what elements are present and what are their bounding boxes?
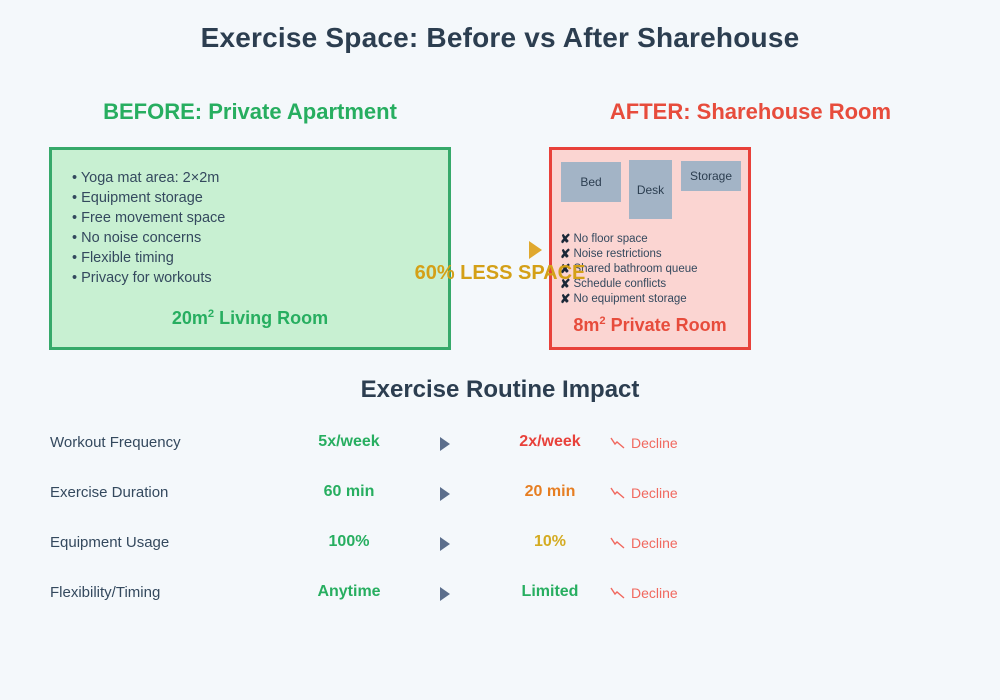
furniture-box-desk: Desk [629,160,672,219]
list-item: • Privacy for workouts [72,268,225,288]
row-arrow-icon [440,437,450,451]
after-area-label: 8m2 Private Room [552,315,748,336]
impact-section-title: Exercise Routine Impact [0,376,1000,404]
before-value: 60 min [249,483,449,501]
table-row: Exercise Duration 60 min 20 min Decline [50,474,750,524]
after-panel: Bed Desk Storage ✘ No floor space ✘ Nois… [549,147,751,350]
row-arrow-icon [440,537,450,551]
table-row: Workout Frequency 5x/week 2x/week Declin… [50,424,750,474]
before-value: Anytime [249,583,449,601]
before-feature-list: • Yoga mat area: 2×2m • Equipment storag… [72,168,225,288]
furniture-box-bed: Bed [561,162,621,202]
metric-label: Flexibility/Timing [50,584,160,601]
before-area-value: 20m [172,308,208,328]
list-item: • Flexible timing [72,248,225,268]
before-panel-heading: BEFORE: Private Apartment [50,99,450,125]
table-row: Equipment Usage 100% 10% Decline [50,524,750,574]
decline-trend-icon [610,586,626,600]
impact-table: Workout Frequency 5x/week 2x/week Declin… [50,424,750,624]
before-value: 100% [249,533,449,551]
restriction-label: No equipment storage [573,292,686,307]
before-value: 5x/week [249,433,449,451]
list-item: ✘ No floor space [560,232,698,247]
decline-trend-icon [610,486,626,500]
list-item: • Free movement space [72,208,225,228]
metric-label: Exercise Duration [50,484,168,501]
before-area-name: Living Room [214,308,328,328]
metric-label: Equipment Usage [50,534,169,551]
transition-arrow-icon [529,241,542,259]
row-arrow-icon [440,587,450,601]
infographic-page: Exercise Space: Before vs After Sharehou… [0,0,1000,700]
row-arrow-icon [440,487,450,501]
decline-trend-icon [610,536,626,550]
before-area-label: 20m2 Living Room [52,308,448,329]
metric-label: Workout Frequency [50,434,181,451]
after-area-name: Private Room [606,315,727,335]
table-row: Flexibility/Timing Anytime Limited Decli… [50,574,750,624]
trend-label: Decline [631,585,678,601]
after-panel-heading: AFTER: Sharehouse Room [550,99,951,125]
restriction-label: No floor space [573,232,647,247]
list-item: • Equipment storage [72,188,225,208]
list-item: • Yoga mat area: 2×2m [72,168,225,188]
page-title: Exercise Space: Before vs After Sharehou… [0,22,1000,54]
furniture-box-storage: Storage [681,161,741,191]
restriction-label: Noise restrictions [573,247,661,262]
trend-indicator: Decline [610,585,678,601]
trend-indicator: Decline [610,485,678,501]
trend-indicator: Decline [610,535,678,551]
trend-indicator: Decline [610,435,678,451]
cross-icon: ✘ [560,292,570,307]
trend-label: Decline [631,535,678,551]
before-panel: • Yoga mat area: 2×2m • Equipment storag… [49,147,451,350]
decline-trend-icon [610,436,626,450]
cross-icon: ✘ [560,247,570,262]
list-item: ✘ No equipment storage [560,292,698,307]
trend-label: Decline [631,485,678,501]
after-area-value: 8m [573,315,599,335]
list-item: • No noise concerns [72,228,225,248]
trend-label: Decline [631,435,678,451]
cross-icon: ✘ [560,232,570,247]
less-space-callout: 60% LESS SPACE [300,262,700,285]
list-item: ✘ Noise restrictions [560,247,698,262]
